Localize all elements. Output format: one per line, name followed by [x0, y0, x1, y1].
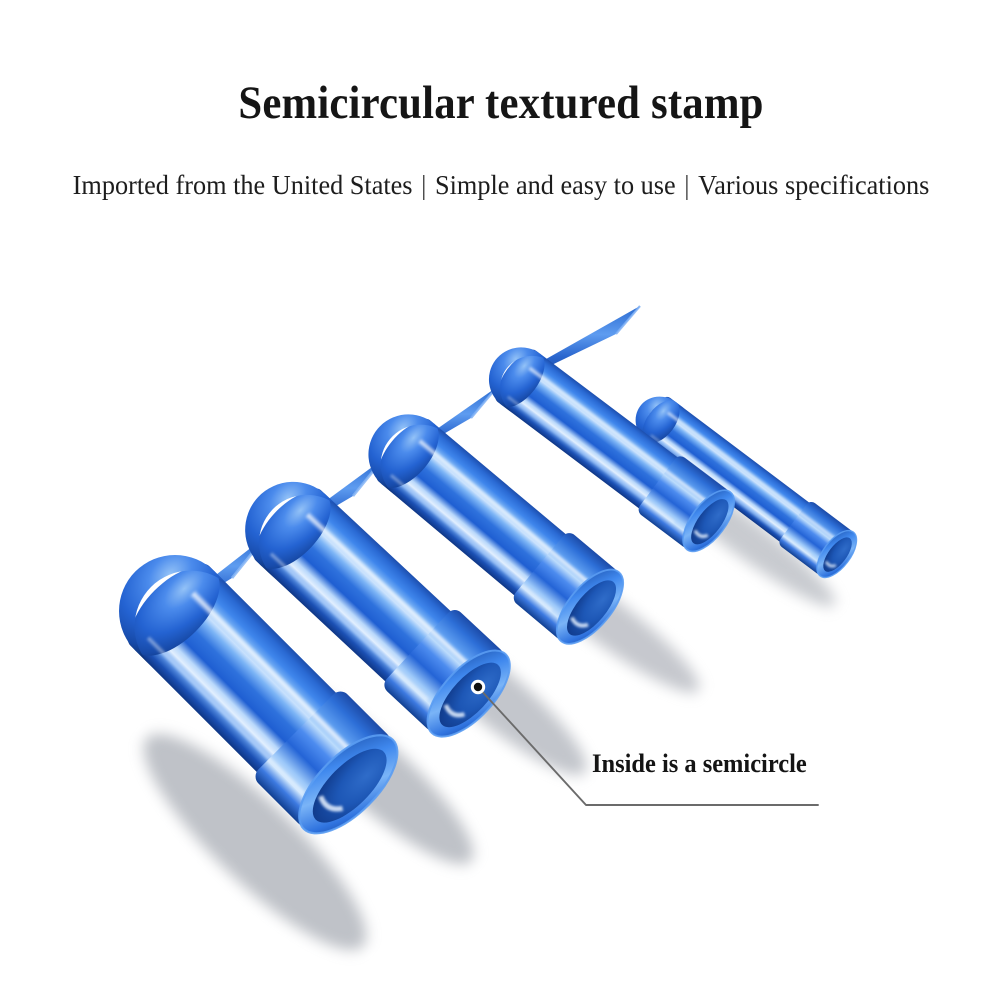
- product-photo: [0, 230, 1002, 1002]
- page-title: Semicircular textured stamp: [45, 76, 957, 130]
- tagline-part-1: Imported from the United States: [73, 169, 413, 200]
- tagline-part-3: Various specifications: [698, 169, 929, 200]
- tagline-part-2: Simple and easy to use: [435, 169, 676, 200]
- feature-tagline: Imported from the United States|Simple a…: [23, 168, 980, 202]
- tagline-separator-2: |: [676, 169, 698, 200]
- product-banner: Semicircular textured stamp Imported fro…: [0, 0, 1002, 1002]
- callout-label: Inside is a semicircle: [592, 748, 807, 780]
- header: Semicircular textured stamp Imported fro…: [0, 0, 1002, 230]
- tagline-separator-1: |: [413, 169, 435, 200]
- connector-sleeves-illustration: [0, 230, 1002, 1002]
